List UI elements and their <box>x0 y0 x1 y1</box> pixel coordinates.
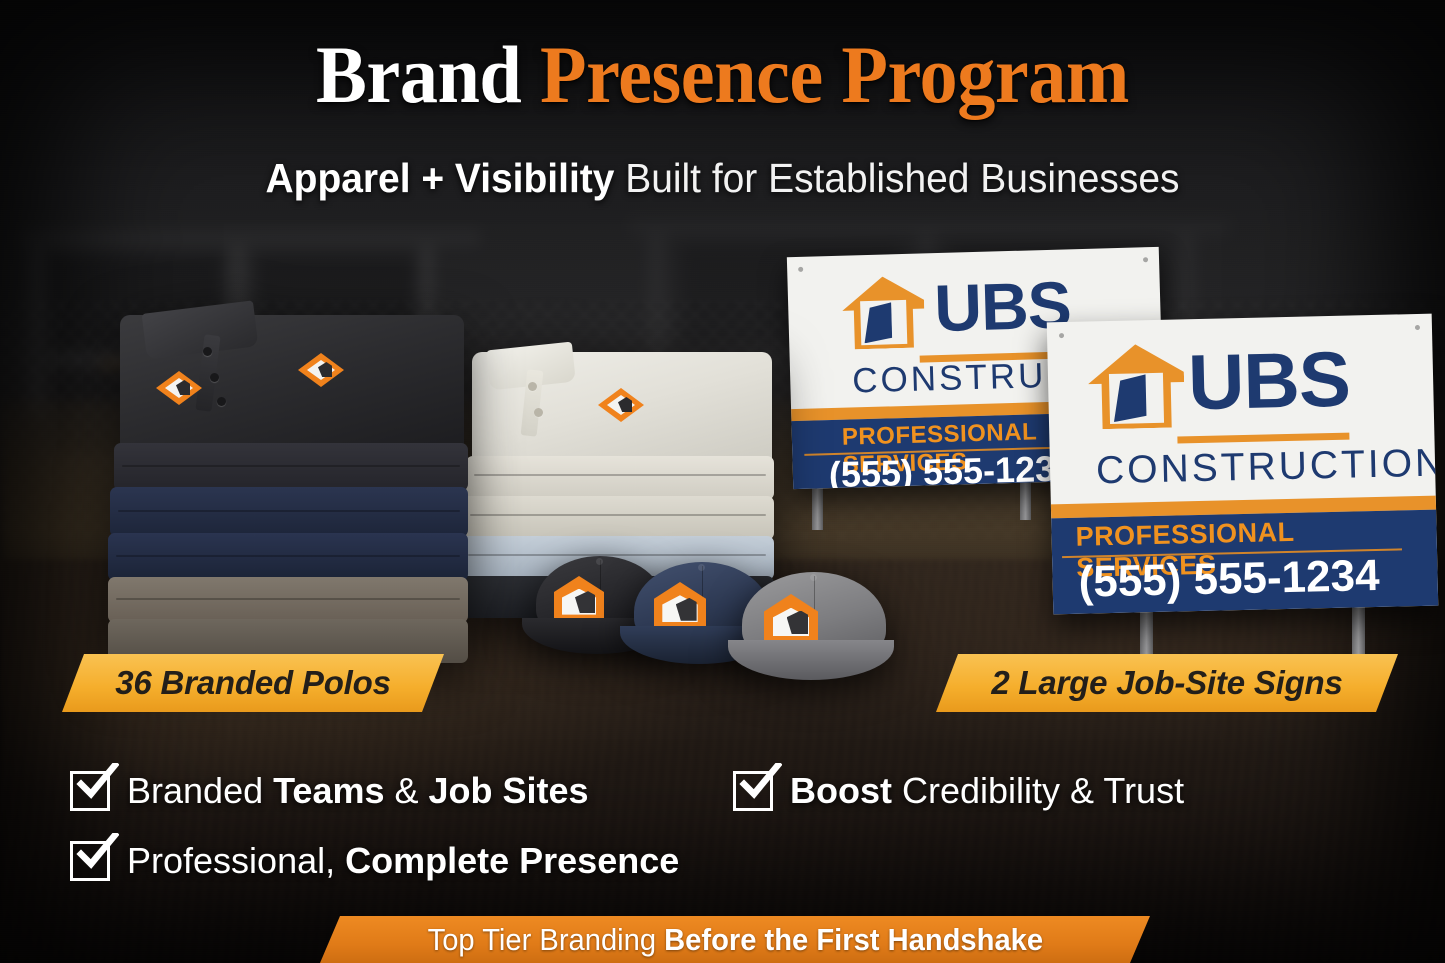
checklist-item-1: Branded Teams & Job Sites <box>70 770 589 812</box>
page-subtitle: Apparel + Visibility Built for Establish… <box>36 155 1409 202</box>
ubs-logo-back <box>841 275 925 349</box>
checkbox-icon <box>70 771 110 811</box>
check-icon <box>75 763 119 803</box>
checklist-1-regular-b: & <box>385 770 429 811</box>
subtitle-bold-part: Apparel + Visibility <box>266 155 615 201</box>
checklist-item-3: Professional, Complete Presence <box>70 840 679 882</box>
cap-gray <box>728 572 896 684</box>
sign-phone-front: (555) 555-1234 <box>1078 551 1380 608</box>
footer-regular-part: Top Tier Branding <box>427 922 663 957</box>
footer-banner: Top Tier Branding Before the First Hands… <box>320 916 1150 963</box>
footer-bold-part: Before the First Handshake <box>664 922 1043 957</box>
badge-polos-label: 36 Branded Polos <box>115 664 391 702</box>
checkbox-icon <box>70 841 110 881</box>
badge-polos: 36 Branded Polos <box>62 654 444 712</box>
title-orange-part: Presence Program <box>540 29 1129 120</box>
yard-sign-front: UBS CONSTRUCTION PROFESSIONAL SERVICES (… <box>1047 314 1439 615</box>
checklist-1-regular-a: Branded <box>127 770 273 811</box>
checkbox-icon <box>733 771 773 811</box>
sign-brand-front: UBS <box>1187 340 1350 422</box>
check-icon <box>738 763 782 803</box>
page-title: Brand Presence Program <box>51 34 1395 116</box>
checklist-item-2: Boost Credibility & Trust <box>733 770 1184 812</box>
sign-category-front: CONSTRUCTION <box>1096 441 1439 493</box>
checklist-text-1: Branded Teams & Job Sites <box>127 770 589 812</box>
checklist-text-2: Boost Credibility & Trust <box>790 770 1184 812</box>
footer-text: Top Tier Branding Before the First Hands… <box>427 922 1042 958</box>
checklist-text-3: Professional, Complete Presence <box>127 840 679 882</box>
badge-signs: 2 Large Job-Site Signs <box>936 654 1398 712</box>
check-icon <box>75 833 119 873</box>
sign-post-front-right <box>1352 600 1365 660</box>
title-white-part: Brand <box>316 29 540 120</box>
subtitle-regular-part: Built for Established Businesses <box>614 155 1179 201</box>
sign-rule-front <box>1177 433 1349 444</box>
badge-signs-label: 2 Large Job-Site Signs <box>991 664 1342 702</box>
checklist-3-regular-a: Professional, <box>127 840 345 881</box>
promo-graphic: Brand Presence Program Apparel + Visibil… <box>0 0 1445 963</box>
checklist-1-bold-a: Teams <box>273 770 384 811</box>
checklist-2-bold-a: Boost <box>790 770 892 811</box>
checklist-1-bold-b: Job Sites <box>429 770 589 811</box>
polo-stack-dark <box>108 315 468 650</box>
checklist-2-regular-b: Credibility & Trust <box>892 770 1184 811</box>
ubs-logo-front <box>1087 343 1185 429</box>
checklist-3-bold-a: Complete Presence <box>345 840 679 881</box>
